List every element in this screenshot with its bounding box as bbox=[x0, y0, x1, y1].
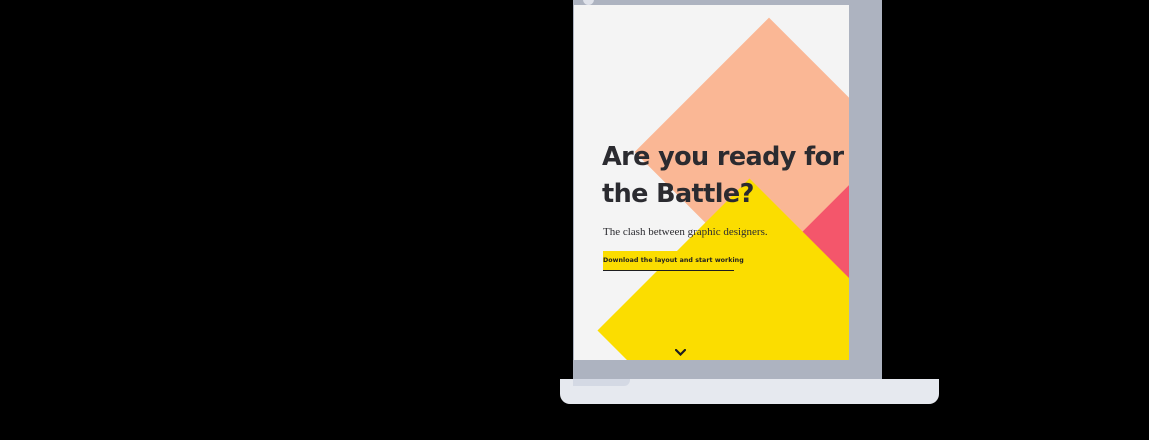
canvas-background: Are you ready for the Battle? The clash … bbox=[0, 0, 1149, 440]
laptop-mockup: Are you ready for the Battle? The clash … bbox=[560, 0, 960, 440]
hero-headline: Are you ready for the Battle? bbox=[602, 139, 849, 213]
hero-subheadline: The clash between graphic designers. bbox=[603, 225, 768, 239]
hero-content: Are you ready for the Battle? The clash … bbox=[602, 5, 849, 360]
laptop-base-notch bbox=[573, 379, 630, 386]
laptop-lid-chin bbox=[573, 360, 882, 380]
chevron-down-icon[interactable] bbox=[673, 345, 687, 359]
laptop-screen: Are you ready for the Battle? The clash … bbox=[574, 5, 849, 360]
download-layout-button[interactable]: Download the layout and start working bbox=[603, 251, 734, 271]
